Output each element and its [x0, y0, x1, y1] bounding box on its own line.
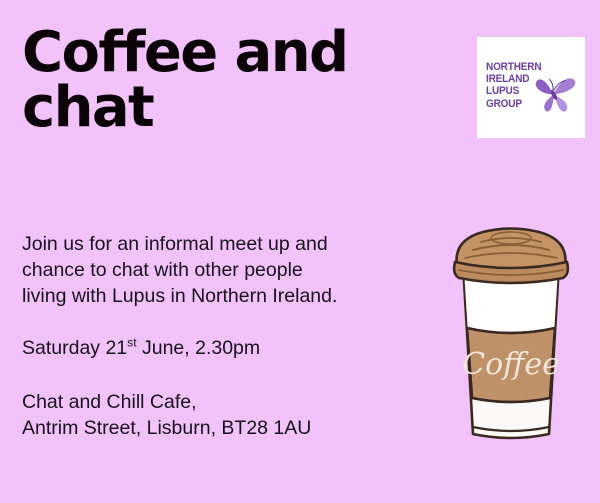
event-venue-address: Chat and Chill Cafe, Antrim Street, Lisb… [22, 389, 412, 441]
organization-logo-card: NORTHERN IRELAND LUPUS GROUP [477, 37, 585, 138]
event-date-prefix: Saturday 21 [22, 337, 127, 359]
event-date-suffix: June, 2.30pm [137, 337, 261, 359]
intro-paragraph: Join us for an informal meet up and chan… [22, 231, 422, 309]
event-datetime: Saturday 21st June, 2.30pm [22, 335, 352, 361]
page-title: Coffee and chat [22, 26, 352, 136]
sleeve-label: Coffee [462, 347, 560, 382]
poster-canvas: Coffee and chat NORTHERN IRELAND LUPUS G… [0, 0, 600, 503]
event-date-ordinal: st [127, 336, 136, 350]
coffee-cup-illustration: Coffee [437, 222, 585, 442]
logo-content: NORTHERN IRELAND LUPUS GROUP [486, 62, 582, 114]
butterfly-icon [534, 75, 578, 113]
